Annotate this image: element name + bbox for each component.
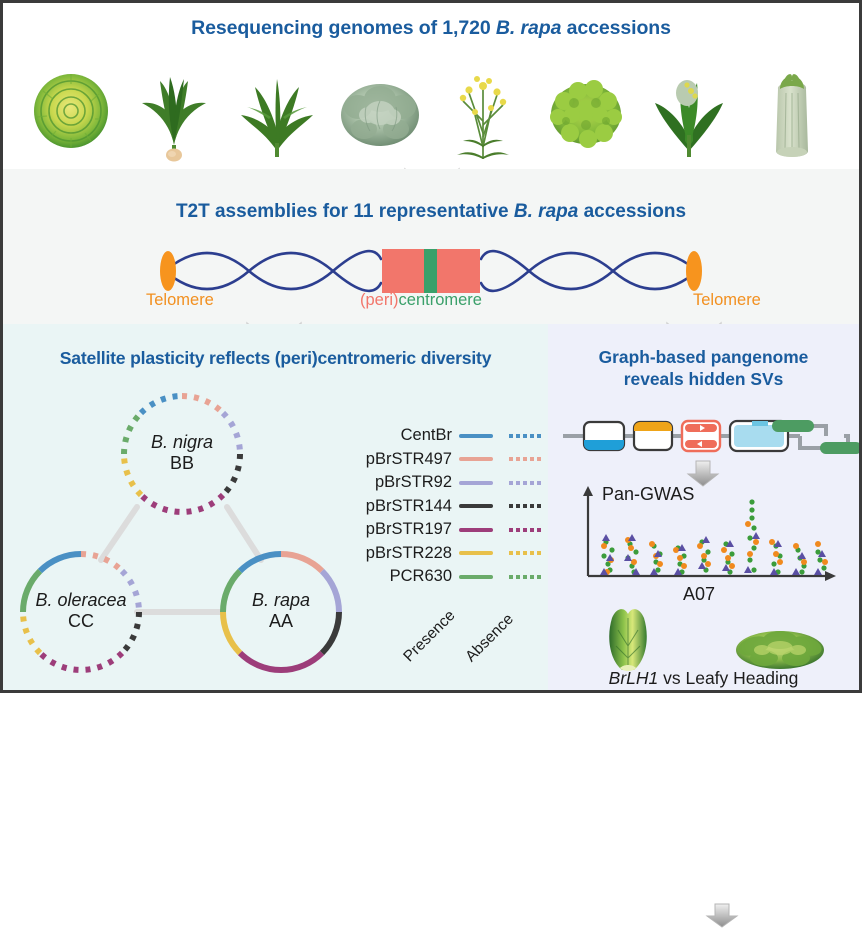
circle-label-b-oleracea: B. oleracea CC [6, 590, 156, 632]
legend-dashed-swatch-pbrstr228 [509, 551, 543, 555]
legend-solid-swatch-pbrstr92 [459, 481, 493, 485]
sv-node-substitution [634, 422, 672, 450]
arrow-down-to-phenotype [703, 902, 741, 928]
legend-dashed-swatch-pcr630 [509, 575, 543, 579]
panel-satellite-plasticity: Satellite plasticity reflects (peri)cent… [3, 324, 548, 690]
legend-label-pbrstr92: pBrSTR92 [375, 473, 459, 492]
plant-photo-leafy-mustard [235, 59, 319, 163]
section1-title-post: accessions [561, 17, 670, 39]
x-axis-arrow [825, 571, 836, 581]
plant-photo-row [3, 51, 859, 163]
legend-label-pbrstr144: pBrSTR144 [366, 497, 459, 516]
legend-solid-swatch-pbrstr144 [459, 504, 493, 508]
circle-genome-b-oleracea: CC [6, 611, 156, 632]
telomere-left-cap [160, 251, 176, 291]
legend-solid-swatch-pbrstr228 [459, 551, 493, 555]
gwas-points [600, 499, 828, 575]
y-axis-arrow [583, 486, 593, 496]
section-resequencing: Resequencing genomes of 1,720 B. rapa ac… [3, 3, 859, 169]
legend-row: pBrSTR228 [375, 542, 543, 566]
centromere-core-block [424, 249, 437, 293]
arrow-down-to-gwas [683, 459, 723, 487]
chromosome-diagram [3, 247, 859, 295]
phenotype-leafy-rosette [736, 631, 824, 669]
circle-species-b-nigra: B. nigra [107, 432, 257, 453]
sv-node-inversion [682, 421, 720, 451]
satellite-legend: CentBr pBrSTR497 pBrSTR92 pBrSTR144 [375, 424, 543, 589]
centromere-label: (peri)centromere [360, 291, 482, 310]
section1-title-pre: Resequencing genomes of 1,720 [191, 17, 496, 39]
circle-species-b-rapa: B. rapa [206, 590, 356, 611]
sv-node-insertion [584, 422, 624, 450]
plant-photo-turnip-rosette [132, 59, 216, 163]
phenotype-leafy-upright [609, 609, 647, 671]
plant-photo-curly-leaf-rosette [544, 59, 628, 163]
link-nigra-oleracea [101, 507, 137, 560]
legend-row: pBrSTR497 [375, 448, 543, 472]
circle-genome-b-nigra: BB [107, 453, 257, 474]
plant-photo-wrapped-heading-cabbage [29, 59, 113, 163]
legend-label-pbrstr497: pBrSTR497 [366, 450, 459, 469]
pan-gwas-plot: Pan-GWAS [548, 484, 859, 604]
legend-dashed-swatch-pbrstr92 [509, 481, 543, 485]
sv-node-duplication-b [820, 442, 859, 454]
plant-photo-broad-leaf-seedling [647, 59, 731, 163]
legend-row: pBrSTR197 [375, 518, 543, 542]
pan-gwas-title: Pan-GWAS [602, 484, 694, 505]
legend-solid-swatch-pbrstr197 [459, 528, 493, 532]
circle-genome-b-rapa: AA [206, 611, 356, 632]
circle-label-b-rapa: B. rapa AA [206, 590, 356, 632]
legend-row: PCR630 [375, 565, 543, 589]
legend-absence-label: Absence [462, 611, 517, 666]
panel-left-title: Satellite plasticity reflects (peri)cent… [3, 324, 548, 369]
phenotype-caption: BrLH1 vs Leafy Heading [548, 668, 859, 689]
sv-pangenome-graph [548, 412, 859, 462]
legend-presence-label: Presence [400, 607, 459, 666]
panel-right-title: Graph-based pangenome reveals hidden SVs [548, 324, 859, 391]
section1-title: Resequencing genomes of 1,720 B. rapa ac… [3, 3, 859, 40]
legend-solid-swatch-centbr [459, 434, 493, 438]
legend-label-pbrstr197: pBrSTR197 [366, 520, 459, 539]
telomere-right-label: Telomere [693, 291, 761, 310]
section2-title: T2T assemblies for 11 representative B. … [3, 169, 859, 223]
satellite-circles-diagram: B. nigra BB B. oleracea CC B. rapa AA [9, 382, 369, 682]
panel-right-title-line1: Graph-based pangenome [599, 347, 809, 367]
section2-title-species: B. rapa [514, 201, 578, 222]
graphical-abstract: Resequencing genomes of 1,720 B. rapa ac… [0, 0, 862, 693]
legend-solid-swatch-pbrstr497 [459, 457, 493, 461]
telomere-right-cap [686, 251, 702, 291]
legend-dashed-swatch-pbrstr144 [509, 504, 543, 508]
legend-dashed-swatch-pbrstr197 [509, 528, 543, 532]
caption-gene-name: BrLH1 [609, 668, 659, 688]
section-t2t-assembly: T2T assemblies for 11 representative B. … [3, 169, 859, 324]
circle-species-b-oleracea: B. oleracea [6, 590, 156, 611]
gwas-axis-label-a07: A07 [683, 584, 715, 605]
legend-dashed-swatch-centbr [509, 434, 543, 438]
centromere-label-part: centromere [399, 291, 482, 309]
section1-title-species: B. rapa [496, 17, 561, 39]
caption-rest: vs Leafy Heading [658, 668, 798, 688]
panel-right-title-line2: reveals hidden SVs [624, 369, 784, 389]
telomere-left-label: Telomere [146, 291, 214, 310]
section2-title-pre: T2T assemblies for 11 representative [176, 201, 514, 222]
legend-dashed-swatch-pbrstr497 [509, 457, 543, 461]
plant-photo-grey-green-cabbage [338, 59, 422, 163]
sv-node-duplication-a [772, 420, 814, 432]
phenotype-photo-row [548, 610, 859, 666]
legend-label-pcr630: PCR630 [390, 567, 459, 586]
legend-label-centbr: CentBr [401, 426, 459, 445]
plant-photo-flowering-bolting-plant [441, 59, 525, 163]
legend-row: pBrSTR92 [375, 471, 543, 495]
legend-axis-labels: Presence Absence [375, 600, 545, 670]
link-nigra-rapa [227, 507, 261, 560]
circle-label-b-nigra: B. nigra BB [107, 432, 257, 474]
pericentromere-label-part: (peri) [360, 291, 399, 309]
legend-row: CentBr [375, 424, 543, 448]
legend-row: pBrSTR144 [375, 495, 543, 519]
legend-solid-swatch-pcr630 [459, 575, 493, 579]
legend-label-pbrstr228: pBrSTR228 [366, 544, 459, 563]
plant-photo-chinese-cabbage-head [750, 59, 834, 163]
section2-title-post: accessions [578, 201, 686, 222]
section-results: Satellite plasticity reflects (peri)cent… [3, 324, 859, 690]
